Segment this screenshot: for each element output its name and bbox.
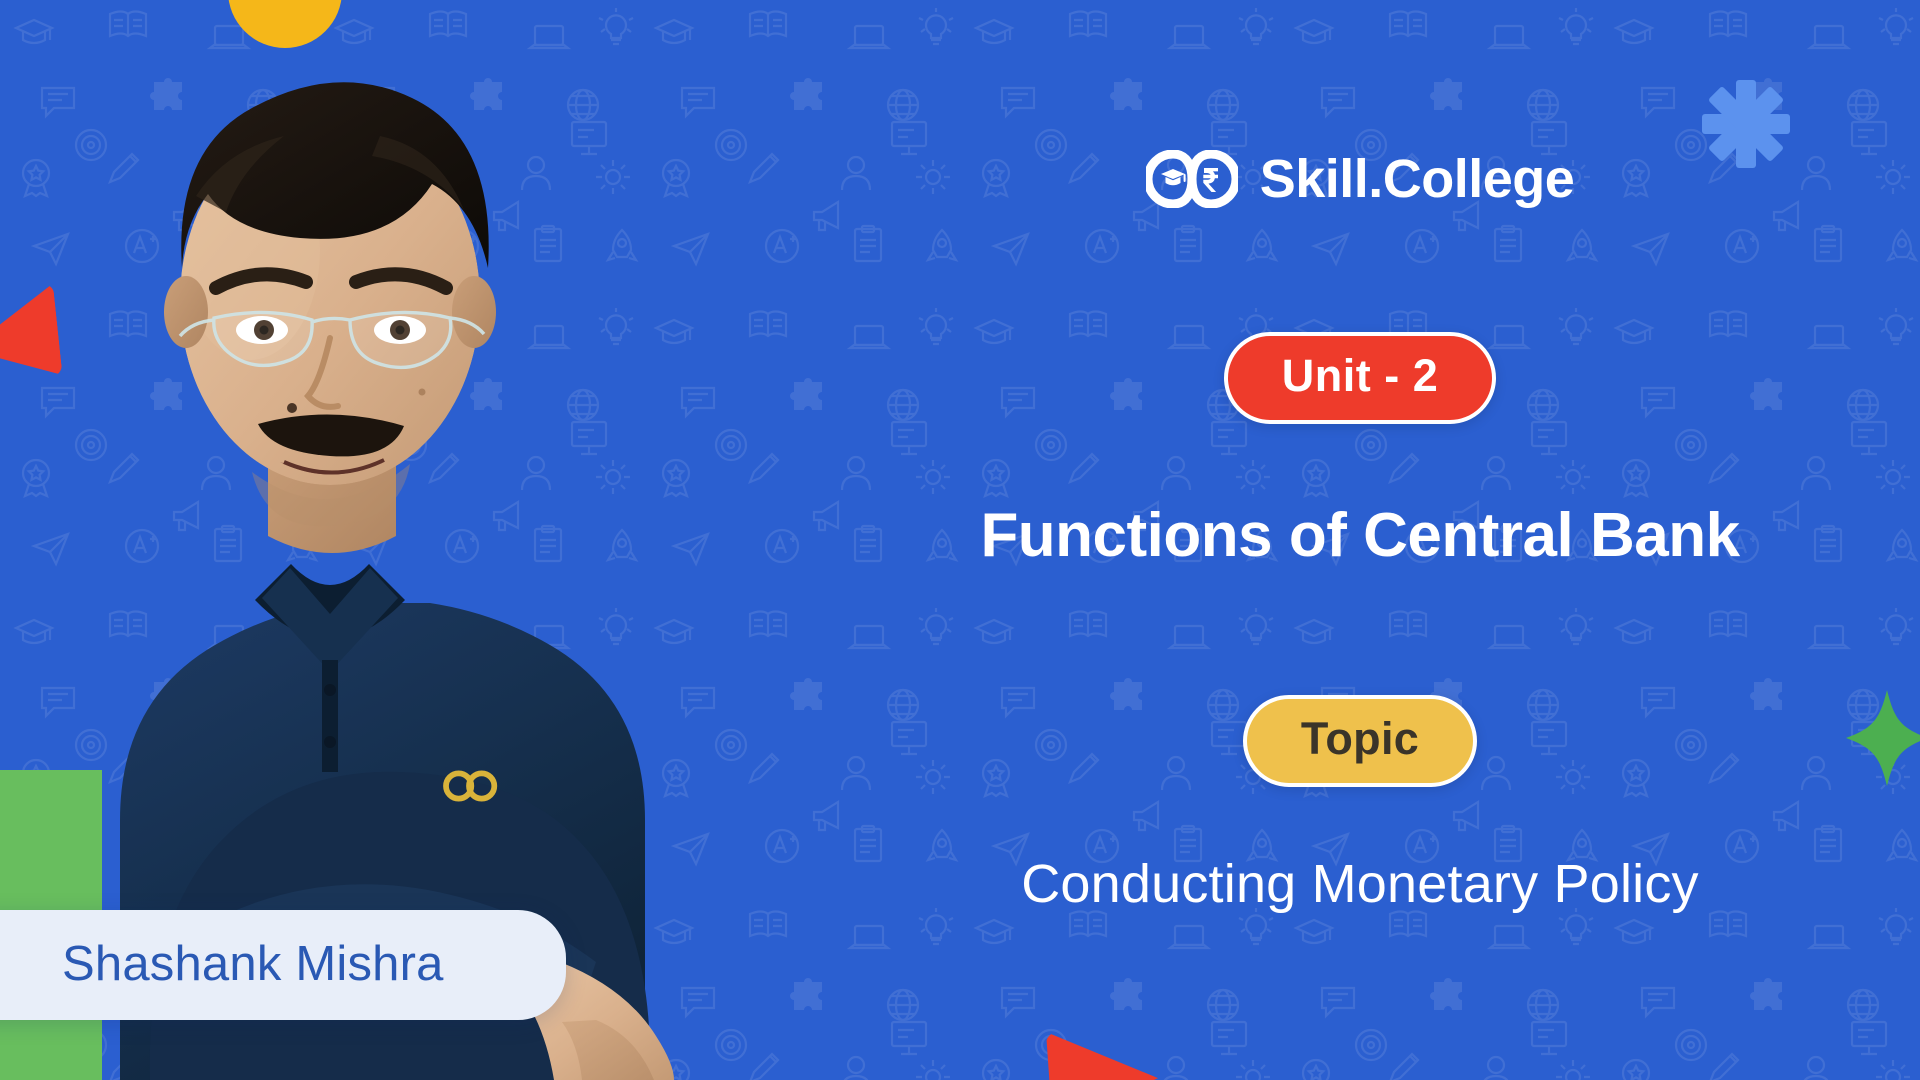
- brand-lockup: Skill.College: [1146, 148, 1575, 210]
- course-title: Functions of Central Bank: [980, 500, 1739, 571]
- topic-badge: Topic: [1243, 695, 1477, 787]
- unit-badge-label: Unit - 2: [1282, 350, 1439, 402]
- slide-content-column: Skill.College Unit - 2 Functions of Cent…: [800, 0, 1920, 1080]
- unit-badge: Unit - 2: [1224, 332, 1497, 424]
- rupee-glyph: [1203, 168, 1218, 192]
- course-title-slide: Shashank Mishra Skill.Colleg: [0, 0, 1920, 1080]
- graduation-cap-glyph: [1161, 169, 1186, 185]
- topic-badge-label: Topic: [1301, 713, 1419, 765]
- brand-name: Skill.College: [1260, 148, 1575, 210]
- infinity-graduation-cap-rupee-icon: [1146, 150, 1238, 208]
- presenter-name: Shashank Mishra: [62, 936, 508, 992]
- topic-title: Conducting Monetary Policy: [1021, 853, 1699, 915]
- presenter-name-plate: Shashank Mishra: [0, 910, 566, 1020]
